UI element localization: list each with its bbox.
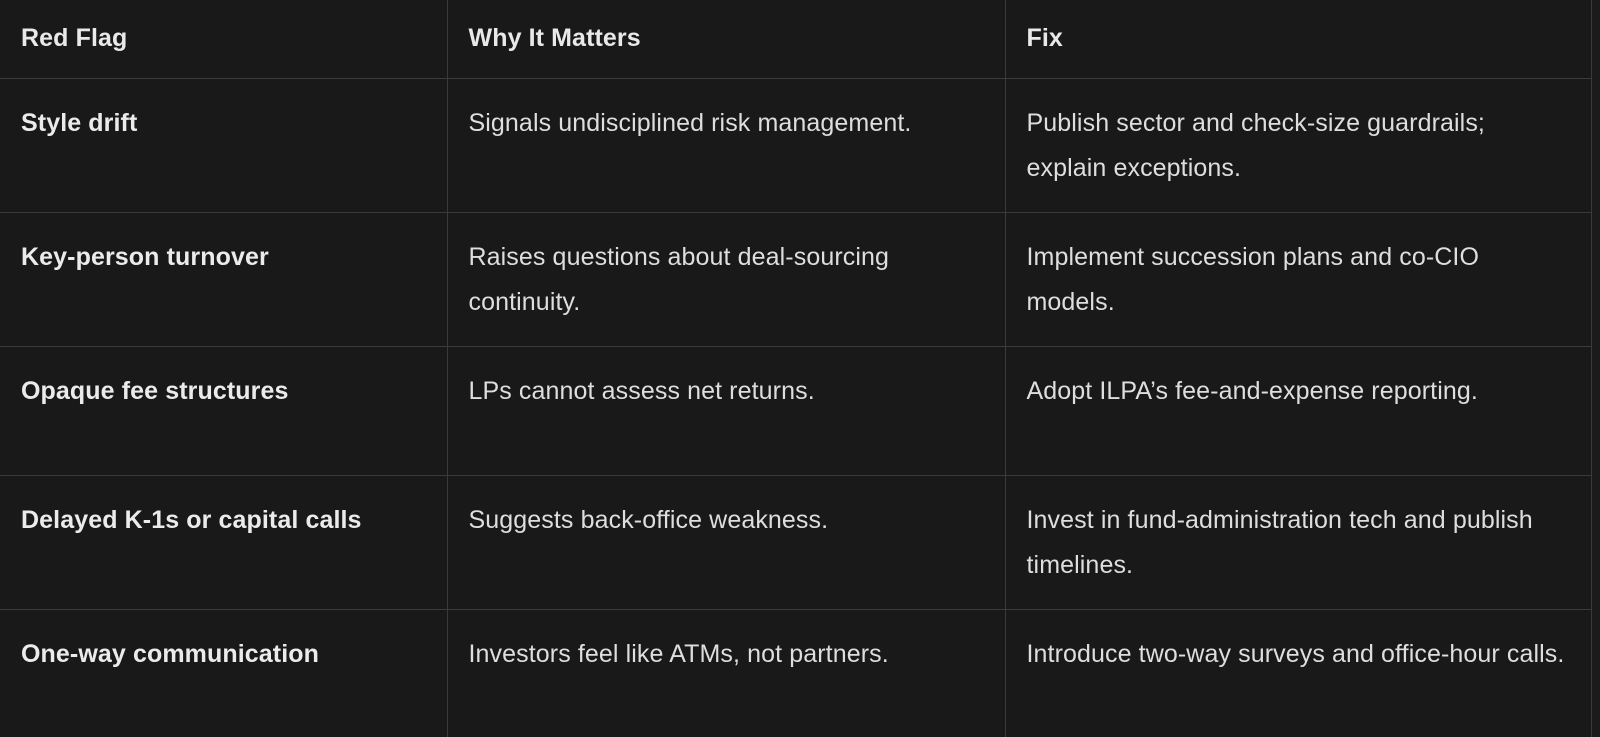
column-header-red-flag: Red Flag	[0, 0, 447, 79]
cell-why-it-matters: Suggests back-office weakness.	[447, 476, 1005, 610]
table-row: Style drift Signals undisciplined risk m…	[0, 79, 1591, 213]
cell-fix: Introduce two-way surveys and office-hou…	[1005, 610, 1591, 737]
column-header-why-it-matters: Why It Matters	[447, 0, 1005, 79]
table-row: Opaque fee structures LPs cannot assess …	[0, 347, 1591, 476]
cell-red-flag: Delayed K-1s or capital calls	[0, 476, 447, 610]
table-header-row: Red Flag Why It Matters Fix	[0, 0, 1591, 79]
cell-red-flag: Style drift	[0, 79, 447, 213]
table-row: One-way communication Investors feel lik…	[0, 610, 1591, 737]
cell-fix: Publish sector and check-size guardrails…	[1005, 79, 1591, 213]
cell-why-it-matters: Investors feel like ATMs, not partners.	[447, 610, 1005, 737]
cell-fix: Adopt ILPA’s fee-and-expense reporting.	[1005, 347, 1591, 476]
cell-why-it-matters: Raises questions about deal-sourcing con…	[447, 213, 1005, 347]
table-viewport: Red Flag Why It Matters Fix Style drift …	[0, 0, 1600, 737]
cell-red-flag: One-way communication	[0, 610, 447, 737]
cell-fix: Implement succession plans and co-CIO mo…	[1005, 213, 1591, 347]
table-header: Red Flag Why It Matters Fix	[0, 0, 1591, 79]
cell-red-flag: Opaque fee structures	[0, 347, 447, 476]
table-body: Style drift Signals undisciplined risk m…	[0, 79, 1591, 737]
cell-why-it-matters: Signals undisciplined risk management.	[447, 79, 1005, 213]
cell-red-flag: Key-person turnover	[0, 213, 447, 347]
column-header-fix: Fix	[1005, 0, 1591, 79]
table-row: Delayed K-1s or capital calls Suggests b…	[0, 476, 1591, 610]
cell-fix: Invest in fund-administration tech and p…	[1005, 476, 1591, 610]
red-flags-table: Red Flag Why It Matters Fix Style drift …	[0, 0, 1592, 737]
cell-why-it-matters: LPs cannot assess net returns.	[447, 347, 1005, 476]
table-row: Key-person turnover Raises questions abo…	[0, 213, 1591, 347]
